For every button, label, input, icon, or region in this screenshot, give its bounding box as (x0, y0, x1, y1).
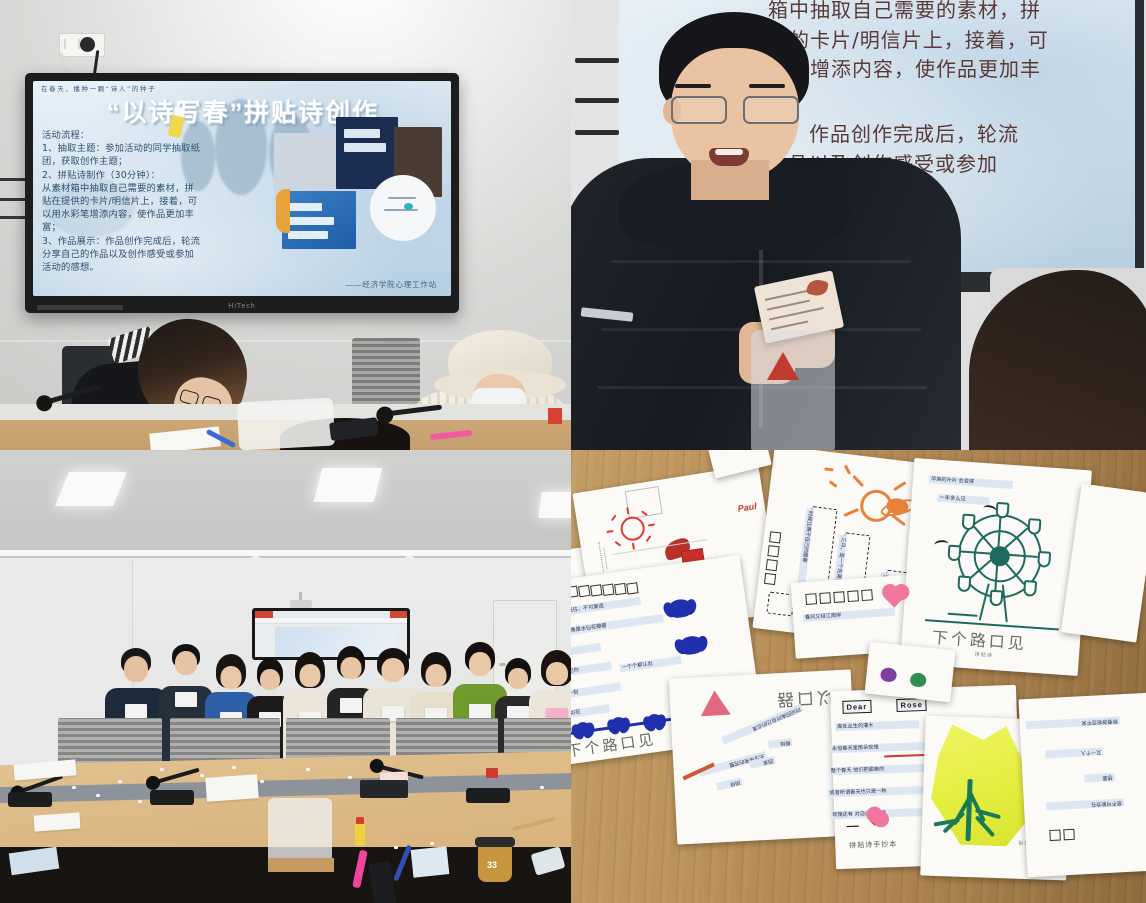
pink-triangle-icon (699, 690, 730, 717)
poem-strip: 新春游祝您平安 (1026, 716, 1120, 729)
card-upside-down-right: 新春游祝您平安 又一个人 想要 是不可能会在 (1018, 693, 1146, 878)
card-flowers-bottom (865, 642, 956, 703)
poem-strip: 日月既往，不可复追 (571, 597, 641, 617)
microphone-base-3 (466, 788, 510, 803)
photo-collage: 在春天，播种一颗“诗人”的种子 “以诗写春”拼贴诗创作 活动流程： 1、抽取主题… (0, 0, 1146, 903)
dear-label: Dear (842, 700, 871, 714)
panel-classroom-slide: 在春天，播种一颗“诗人”的种子 “以诗写春”拼贴诗创作 活动流程： 1、抽取主题… (0, 0, 571, 450)
glue-stick (355, 822, 365, 846)
paper-sheet-5 (411, 846, 450, 878)
poem-strip: 给你 第一刻 (571, 683, 621, 701)
poem-strip: 高处丛生的灌木 (835, 720, 919, 731)
poem-strip: 又一个人 (1045, 747, 1103, 758)
plastic-bag (751, 330, 835, 450)
card-footer: 拼贴诗手抄本 (849, 839, 897, 851)
leaf-sticker-icon (806, 278, 829, 298)
poem-strip: 看想要看见你 (571, 662, 612, 679)
poem-strip: 便新雪初霁 (571, 643, 601, 660)
slide-signature: ——经济学院心理工作站 (346, 279, 437, 290)
panel-presenter: 箱中抽取自己需要的素材，拼 供的卡片/明信片上，接着，可 彩笔增添内容，使作品更… (571, 0, 1146, 450)
ceiling-light-3 (538, 492, 571, 518)
poem-strip: 一年多么见 (937, 494, 989, 506)
heart-drawing-icon (869, 814, 881, 826)
poem-strip: 一个个都认出 (619, 656, 682, 673)
slide-body: 活动流程： 1、抽取主题：参加活动的同学抽取纸 团，获取创作主题； 2、拼贴诗制… (42, 129, 277, 274)
smart-board: 在春天，播种一颗“诗人”的种子 “以诗写春”拼贴诗创作 活动流程： 1、抽取主题… (25, 73, 459, 313)
plastic-bag (237, 398, 335, 450)
poem-strip: 华美的叶片 会变得 (929, 475, 1013, 489)
ceiling-light-2 (314, 468, 382, 502)
panel-postcards: Paul 日月既往，不可复追 你的眼睛 像是水仙花瓣瓣 (571, 450, 1146, 903)
poem-strip: 微笑如花 (571, 704, 610, 719)
poem-strip: 都给 (768, 738, 793, 749)
card-ferris-wheel: 华美的叶片 会变得 一年多么见 (900, 458, 1092, 676)
paper-sheet-3 (33, 812, 80, 831)
wood-block (268, 858, 334, 872)
eyeglasses-icon (671, 96, 799, 122)
black-box (360, 780, 408, 798)
slide-collage-photo (274, 117, 444, 252)
purple-flower-sticker-icon (880, 667, 897, 683)
tv-ports (37, 305, 123, 310)
poem-strip: 雨停 (716, 777, 743, 791)
butterfly-sticker-icon (678, 635, 704, 656)
poem-strip: 想要 (1084, 773, 1114, 783)
slide-screen: 在春天，播种一颗“诗人”的种子 “以诗写春”拼贴诗创作 活动流程： 1、抽取主题… (33, 81, 451, 296)
green-flower-sticker-icon (910, 672, 927, 688)
projector-mount (290, 600, 312, 608)
butterfly-sticker-icon (667, 598, 693, 619)
poem-strip: 春风又绿江南岸 (803, 608, 895, 623)
sun-drawing-icon (619, 515, 646, 542)
tote-bag (268, 798, 332, 864)
rose-label: Rose (896, 698, 927, 712)
microphone-base-1 (8, 792, 52, 807)
paper-sheet-2 (205, 774, 259, 802)
mouth (709, 148, 749, 166)
microphone-base-2 (150, 790, 194, 805)
red-object (486, 768, 498, 778)
card-footer: 拼贴诗 (975, 651, 993, 659)
coffee-cup: 33 (478, 842, 512, 882)
red-triangle-icon (767, 352, 799, 380)
panel-group-photo: 33 全体参与同学手持作品在会议室内合影留念 (0, 450, 571, 903)
tv-brand-label: HiTech (228, 303, 255, 310)
poem-strip: 时候比赛于自己的暖春 (797, 508, 814, 584)
poem-strip: 是不可能会在 (1046, 798, 1124, 810)
handwriting-scribble: Paul (737, 501, 757, 514)
red-object (548, 408, 562, 424)
slide-top-line: 在春天，播种一颗“诗人”的种子 (41, 83, 156, 93)
poem-strip: 你的眼睛 像是水仙花瓣瓣 (571, 614, 664, 639)
